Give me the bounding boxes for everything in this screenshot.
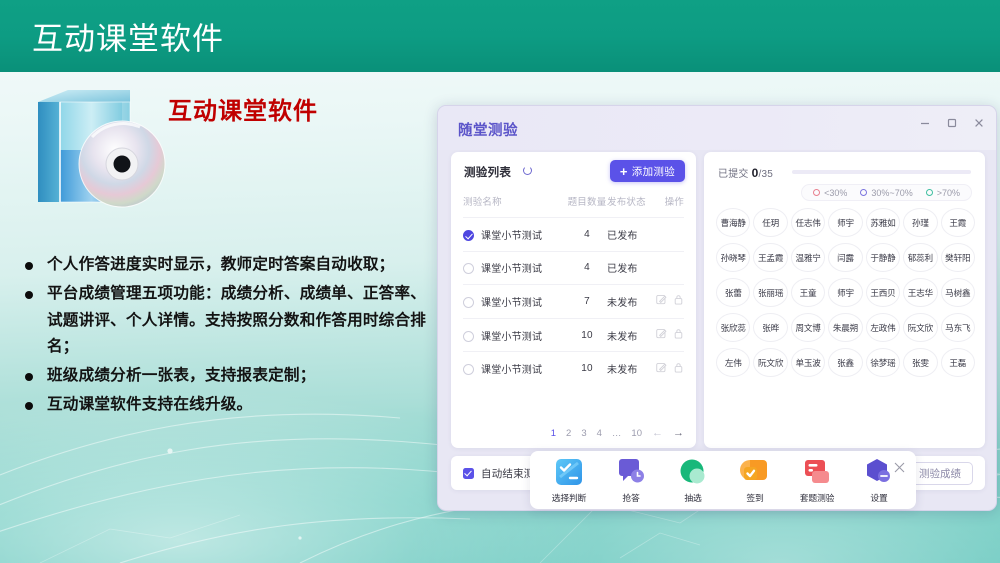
quiz-status: 未发布 xyxy=(607,285,651,319)
quiz-table: 测验名称 题目数量 发布状态 操作 课堂小节测试4已发布课堂小节测试4已发布课堂… xyxy=(463,194,684,385)
student-chip[interactable]: 阮文欣 xyxy=(753,348,787,377)
list-item: 班级成绩分析一张表，支持报表定制； xyxy=(14,363,434,390)
student-chip[interactable]: 张鑫 xyxy=(828,348,862,377)
toolbar-item-quiz-set[interactable]: 套题测验 xyxy=(794,457,840,504)
student-chip[interactable]: 苏雅如 xyxy=(866,208,900,237)
feature-bullet-list: 个人作答进度实时显示，教师定时答案自动收取； 平台成绩管理五项功能：成绩分析、成… xyxy=(14,252,434,421)
quiz-status: 已发布 xyxy=(607,218,651,252)
submitted-total: /35 xyxy=(758,169,773,180)
student-chip[interactable]: 张雯 xyxy=(903,348,937,377)
student-chip[interactable]: 孙瑾 xyxy=(903,208,937,237)
legend-dot-mid xyxy=(860,189,867,196)
settings-icon xyxy=(864,457,894,487)
quiz-question-count: 7 xyxy=(567,285,607,319)
row-operations[interactable] xyxy=(651,352,684,385)
student-chip[interactable]: 闫露 xyxy=(828,243,862,272)
column-header-count: 题目数量 xyxy=(567,194,607,218)
row-operations[interactable] xyxy=(651,251,684,285)
quiz-name: 课堂小节测试 xyxy=(481,365,542,376)
toolbar-item-sign-in[interactable]: 签到 xyxy=(732,457,778,504)
student-chip[interactable]: 王童 xyxy=(791,278,825,307)
close-icon[interactable] xyxy=(894,460,905,471)
row-select-radio[interactable] xyxy=(463,331,474,342)
student-chip[interactable]: 师宇 xyxy=(828,278,862,307)
table-row[interactable]: 课堂小节测试4已发布 xyxy=(463,218,684,252)
rush-answer-icon xyxy=(616,457,646,487)
lock-icon[interactable] xyxy=(673,362,684,373)
header-bar: 互动课堂软件 xyxy=(0,0,1000,72)
add-quiz-button[interactable]: + 添加测验 xyxy=(610,160,685,182)
lock-icon[interactable] xyxy=(673,328,684,339)
page-number[interactable]: 10 xyxy=(631,428,642,439)
quiz-list-title: 测验列表 xyxy=(464,167,511,179)
student-chip[interactable]: 任志伟 xyxy=(791,208,825,237)
table-row[interactable]: 课堂小节测试7未发布 xyxy=(463,285,684,319)
sign-in-icon xyxy=(740,457,770,487)
row-select-radio[interactable] xyxy=(463,297,474,308)
close-icon[interactable] xyxy=(972,116,986,130)
submitted-label: 已提交 xyxy=(718,169,749,180)
edit-icon[interactable] xyxy=(656,328,667,339)
quiz-list-card: 测验列表 + 添加测验 测验名称 题目数量 发布状态 操作 课堂小节测试4已发布… xyxy=(451,152,696,448)
toolbar-label: 抢答 xyxy=(622,491,639,504)
quiz-status: 未发布 xyxy=(607,352,651,385)
table-row[interactable]: 课堂小节测试4已发布 xyxy=(463,251,684,285)
column-header-name: 测验名称 xyxy=(463,194,567,218)
refresh-icon[interactable] xyxy=(523,166,532,175)
quiz-name: 课堂小节测试 xyxy=(481,332,542,343)
submitted-text: 已提交 0/35 xyxy=(718,169,773,180)
student-chip[interactable]: 樊轩阳 xyxy=(941,243,975,272)
quiz-question-count: 10 xyxy=(567,318,607,352)
left-content-column: 互动课堂软件 个人作答进度实时显示，教师定时答案自动收取； 平台成绩管理五项功能… xyxy=(0,72,436,563)
quiz-question-count: 10 xyxy=(567,352,607,385)
column-header-status: 发布状态 xyxy=(607,194,651,218)
page-number[interactable]: … xyxy=(612,428,622,439)
lock-icon[interactable] xyxy=(673,294,684,305)
student-grid: 曹海静任玥任志伟师宇苏雅如孙瑾王霞孙晓琴王孟霞温雅宁闫露于静静郁蕊利樊轩阳张蕾张… xyxy=(716,208,975,377)
submission-progress-bar xyxy=(792,170,971,174)
legend-item-high: >70% xyxy=(926,188,960,198)
student-chip[interactable]: 孙晓琴 xyxy=(716,243,750,272)
student-chip[interactable]: 张欣蕊 xyxy=(716,313,750,342)
minimize-icon[interactable] xyxy=(918,116,932,130)
student-chip[interactable]: 单玉波 xyxy=(791,348,825,377)
toolbar-item-rush-answer[interactable]: 抢答 xyxy=(608,457,654,504)
toolbar-label: 选择判断 xyxy=(552,491,586,504)
edit-icon[interactable] xyxy=(656,294,667,305)
edit-icon[interactable] xyxy=(656,362,667,373)
window-title: 随堂测验 xyxy=(458,119,518,140)
quiz-set-icon xyxy=(802,457,832,487)
toolbar-label: 签到 xyxy=(746,491,763,504)
window-controls xyxy=(918,116,986,130)
random-pick-icon xyxy=(678,457,708,487)
toolbar-label: 设置 xyxy=(870,491,887,504)
row-operations[interactable] xyxy=(651,218,684,252)
student-chip[interactable]: 任玥 xyxy=(753,208,787,237)
table-header-row: 测验名称 题目数量 发布状态 操作 xyxy=(463,194,684,218)
student-chip[interactable]: 马树鑫 xyxy=(941,278,975,307)
quiz-name: 课堂小节测试 xyxy=(481,264,542,275)
table-row[interactable]: 课堂小节测试10未发布 xyxy=(463,352,684,385)
plus-icon: + xyxy=(620,165,628,178)
list-item: 互动课堂软件支持在线升级。 xyxy=(14,392,434,419)
pagination[interactable]: 1234…10←→ xyxy=(463,427,684,439)
quiz-score-button[interactable]: 测验成绩 xyxy=(907,462,973,485)
row-operations[interactable] xyxy=(651,318,684,352)
quiz-name: 课堂小节测试 xyxy=(481,231,542,242)
row-operations[interactable] xyxy=(651,285,684,319)
legend-dot-high xyxy=(926,189,933,196)
student-chip[interactable]: 王西贝 xyxy=(866,278,900,307)
student-chip[interactable]: 周文博 xyxy=(791,313,825,342)
legend-item-low: <30% xyxy=(813,188,847,198)
student-chip[interactable]: 王孟霞 xyxy=(753,243,787,272)
page-number[interactable]: 4 xyxy=(597,428,602,439)
row-select-radio[interactable] xyxy=(463,364,474,375)
toolbar-item-random-pick[interactable]: 抽选 xyxy=(670,457,716,504)
page-number[interactable]: 3 xyxy=(581,428,586,439)
table-row[interactable]: 课堂小节测试10未发布 xyxy=(463,318,684,352)
legend-dot-low xyxy=(813,189,820,196)
quiz-question-count: 4 xyxy=(567,251,607,285)
student-chip[interactable]: 郁蕊利 xyxy=(903,243,937,272)
legend-item-mid: 30%~70% xyxy=(860,188,912,198)
page-number[interactable]: 2 xyxy=(566,428,571,439)
floating-toolbar: 选择判断 抢答 抽选 签到 套题测验 xyxy=(530,451,916,509)
student-chip[interactable]: 师宇 xyxy=(828,208,862,237)
score-legend: <30% 30%~70% >70% xyxy=(801,184,972,201)
student-chip[interactable]: 张蕾 xyxy=(716,278,750,307)
quiz-list-header: 测验列表 + 添加测验 xyxy=(464,163,685,190)
row-select-radio[interactable] xyxy=(463,230,474,241)
toolbar-label: 抽选 xyxy=(684,491,701,504)
student-chip[interactable]: 马东飞 xyxy=(941,313,975,342)
page-title: 互动课堂软件 xyxy=(32,14,224,59)
student-chip[interactable]: 王磊 xyxy=(941,348,975,377)
auto-end-checkbox[interactable] xyxy=(463,468,474,479)
student-chip[interactable]: 徐梦瑶 xyxy=(866,348,900,377)
student-chip[interactable]: 左政伟 xyxy=(866,313,900,342)
quiz-question-count: 4 xyxy=(567,218,607,252)
student-chip[interactable]: 王霞 xyxy=(941,208,975,237)
row-select-radio[interactable] xyxy=(463,263,474,274)
choice-judge-icon xyxy=(554,457,584,487)
student-chip[interactable]: 张丽瑶 xyxy=(753,278,787,307)
student-chip[interactable]: 朱晨朔 xyxy=(828,313,862,342)
list-item: 个人作答进度实时显示，教师定时答案自动收取； xyxy=(14,252,434,279)
student-chip[interactable]: 温雅宁 xyxy=(791,243,825,272)
add-quiz-label: 添加测验 xyxy=(632,164,675,179)
toolbar-label: 套题测验 xyxy=(800,491,834,504)
quiz-status: 未发布 xyxy=(607,318,651,352)
arrow-left-icon[interactable]: ← xyxy=(652,427,663,439)
window-titlebar: 随堂测验 xyxy=(438,106,997,150)
submitted-status: 已提交 0/35 xyxy=(718,164,971,179)
student-chip[interactable]: 曹海静 xyxy=(716,208,750,237)
toolbar-item-choice-judge[interactable]: 选择判断 xyxy=(546,457,592,504)
column-header-ops: 操作 xyxy=(651,194,684,218)
student-chip[interactable]: 于静静 xyxy=(866,243,900,272)
student-chip[interactable]: 王志华 xyxy=(903,278,937,307)
student-chip[interactable]: 张晔 xyxy=(753,313,787,342)
quiz-name: 课堂小节测试 xyxy=(481,298,542,309)
maximize-icon[interactable] xyxy=(945,116,959,130)
page-number[interactable]: 1 xyxy=(551,428,556,439)
arrow-right-icon[interactable]: → xyxy=(673,427,684,439)
student-chip[interactable]: 阮文欣 xyxy=(903,313,937,342)
quiz-status: 已发布 xyxy=(607,251,651,285)
list-item: 平台成绩管理五项功能：成绩分析、成绩单、正答率、试题讲评、个人详情。支持按照分数… xyxy=(14,281,434,361)
students-card: 已提交 0/35 <30% 30%~70% >70% 曹海静任玥任志伟师宇苏雅如… xyxy=(704,152,985,448)
student-chip[interactable]: 左伟 xyxy=(716,348,750,377)
software-box-cd-icon xyxy=(22,82,182,212)
product-title: 互动课堂软件 xyxy=(168,91,318,126)
